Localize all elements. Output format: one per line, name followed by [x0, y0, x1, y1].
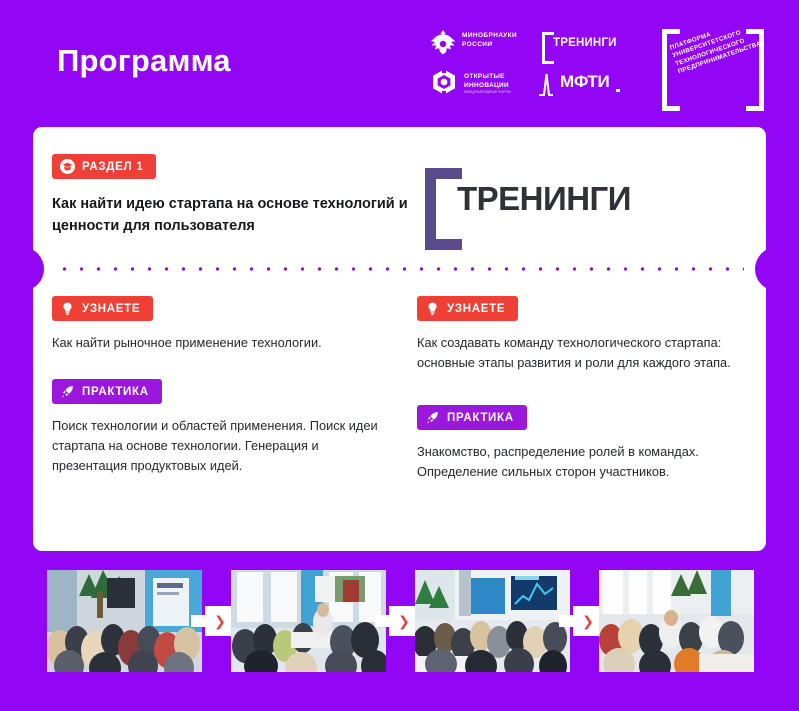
- logo-minobrnauki: МИНОБРНАУКИ РОССИИ: [430, 28, 535, 58]
- rocket-icon: [425, 410, 440, 425]
- treningi-brand: ТРЕНИНГИ: [425, 168, 685, 230]
- logo-minobrnauki-label: МИНОБРНАУКИ РОССИИ: [462, 31, 517, 49]
- logo-mfti-dot: [616, 89, 620, 92]
- block-text: Знакомство, распределение ролей в команд…: [417, 442, 762, 482]
- logo-platforma: ПЛАТФОРМА УНИВЕРСИТЕТСКОГО ТЕХНОЛОГИЧЕСК…: [652, 25, 772, 105]
- badge-praktika: ПРАКТИКА: [417, 405, 527, 430]
- photo-1: [47, 570, 202, 672]
- photo-2: [231, 570, 386, 672]
- badge-uznaete: УЗНАЕТЕ: [417, 296, 518, 321]
- photo-strip: ❯: [47, 570, 755, 672]
- badge-praktika: ПРАКТИКА: [52, 379, 162, 404]
- section-header: РАЗДЕЛ 1 Как найти идею стартапа на осно…: [52, 154, 412, 237]
- badge-uznaete-label: УЗНАЕТЕ: [447, 303, 505, 315]
- lightbulb-icon: [60, 301, 75, 316]
- page-header: Программа МИНОБРНАУКИ РОССИИ: [0, 0, 799, 127]
- dotted-divider: [56, 267, 744, 271]
- logo-otkrytye-innovatsii-sub: МЕЖДУНАРОДНЫЙ ФОРУМ: [464, 90, 511, 94]
- logo-otkrytye-innovatsii: ОТКРЫТЫЕ ИННОВАЦИИ МЕЖДУНАРОДНЫЙ ФОРУМ: [430, 68, 545, 100]
- column-right: УЗНАЕТЕ Как создавать команду технологич…: [417, 296, 762, 482]
- photo-3: [415, 570, 570, 672]
- badge-uznaete-label: УЗНАЕТЕ: [82, 303, 140, 315]
- treningi-brand-label: ТРЕНИНГИ: [457, 180, 631, 218]
- lightbulb-icon: [425, 301, 440, 316]
- logo-mfti-label: МФТИ: [560, 72, 609, 92]
- column-left: УЗНАЕТЕ Как найти рыночное применение те…: [52, 296, 397, 476]
- badge-uznaete: УЗНАЕТЕ: [52, 296, 153, 321]
- section-badge-label: РАЗДЕЛ 1: [82, 161, 143, 173]
- block-text: Как создавать команду технологического с…: [417, 333, 762, 373]
- graduation-cap-icon: [60, 159, 75, 174]
- block-praktika: ПРАКТИКА Знакомство, распределение ролей…: [417, 405, 762, 482]
- block-praktika: ПРАКТИКА Поиск технологии и областей при…: [52, 379, 397, 476]
- page-title: Программа: [57, 42, 231, 80]
- badge-praktika-label: ПРАКТИКА: [82, 386, 149, 398]
- hexagon-icon: [430, 68, 458, 96]
- block-text: Как найти рыночное применение технологии…: [52, 333, 397, 353]
- rocket-icon: [60, 384, 75, 399]
- photo-4: [599, 570, 754, 672]
- logo-treningi-label: ТРЕНИНГИ: [553, 37, 617, 49]
- badge-praktika-label: ПРАКТИКА: [447, 412, 514, 424]
- double-headed-eagle-icon: [430, 28, 456, 56]
- section-badge: РАЗДЕЛ 1: [52, 154, 156, 179]
- logo-otkrytye-innovatsii-label: ОТКРЫТЫЕ ИННОВАЦИИ: [464, 73, 509, 90]
- section-title: Как найти идею стартапа на основе технол…: [52, 193, 412, 237]
- block-text: Поиск технологии и областей применения. …: [52, 416, 397, 476]
- logo-treningi: ТРЕНИНГИ: [542, 32, 622, 60]
- logo-row: МИНОБРНАУКИ РОССИИ ОТКРЫТЫЕ ИННОВАЦИИ МЕ…: [430, 26, 775, 104]
- logo-mfti: МФТИ: [538, 70, 630, 100]
